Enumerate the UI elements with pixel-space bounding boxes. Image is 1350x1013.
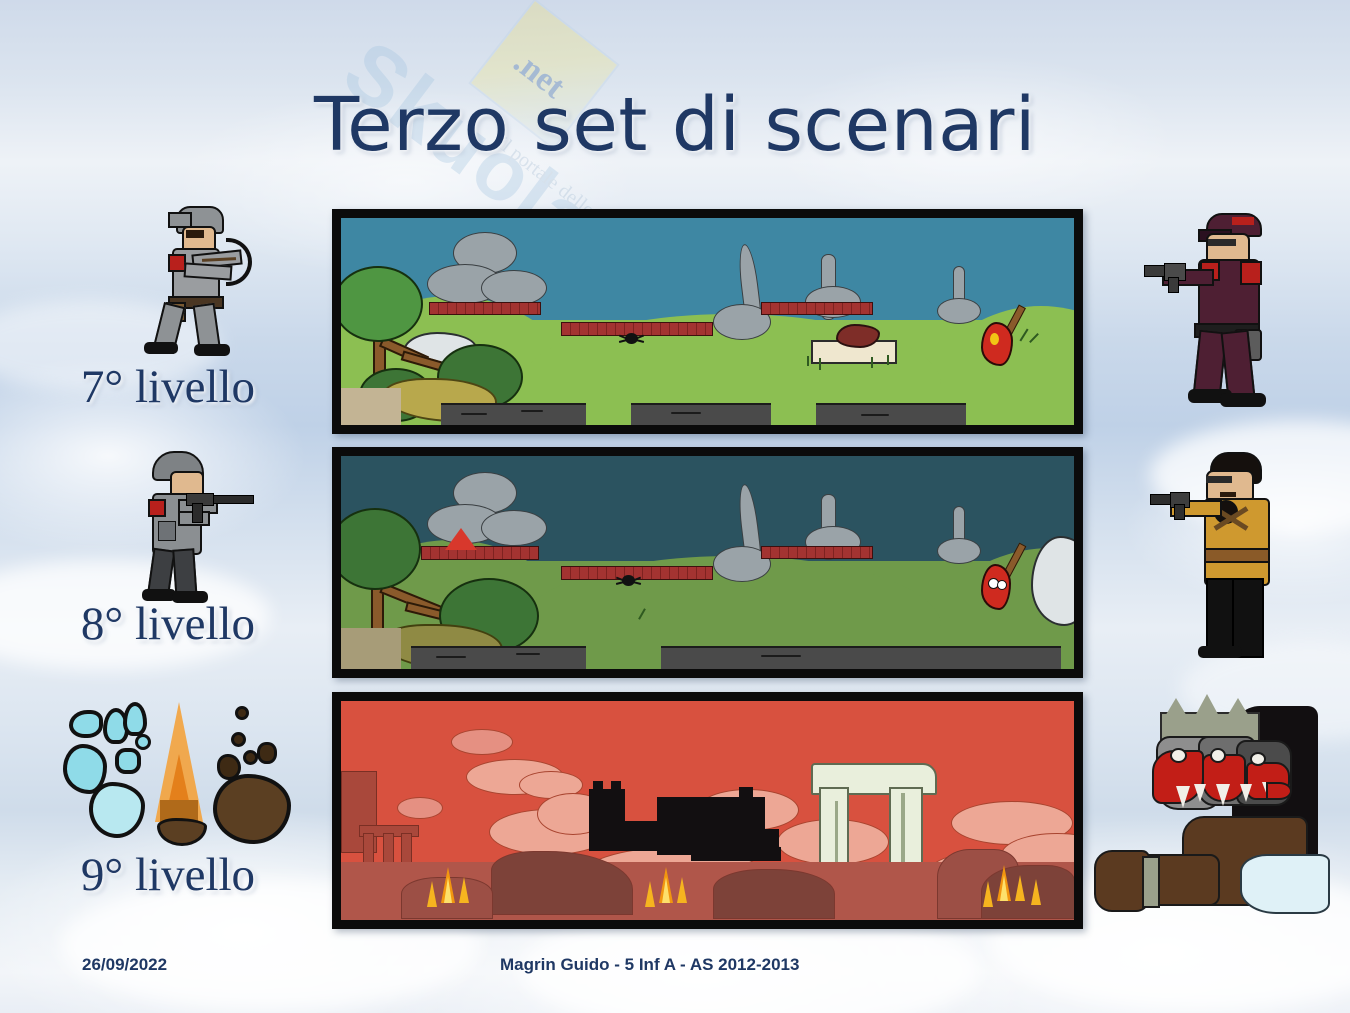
- three-headed-crowned-monster-icon: [1090, 698, 1340, 928]
- cloud: [397, 797, 443, 819]
- red-flag-creature: [981, 564, 1011, 610]
- sunglasses: [1208, 239, 1236, 246]
- worm: [671, 412, 701, 414]
- cap-band: [1232, 217, 1254, 225]
- smoke-puff: [481, 510, 547, 546]
- castle-spire-silhouette: [765, 829, 779, 855]
- lava-flame: [677, 877, 687, 903]
- platform: [661, 646, 1061, 669]
- pistol-grip: [1168, 277, 1179, 293]
- level-label-9: 9° livello: [18, 848, 318, 902]
- scenario-panel-level-9[interactable]: [332, 692, 1083, 929]
- scene-grassland-dusk: [341, 456, 1074, 669]
- smoke-puff: [481, 270, 547, 306]
- bow: [226, 238, 252, 286]
- worm: [761, 655, 801, 657]
- lava-flame-core: [662, 877, 670, 903]
- ice-shard-icon: [123, 702, 147, 736]
- scene-grassland-day: [341, 218, 1074, 425]
- castle-merlon-silhouette: [611, 781, 621, 793]
- rifle-magazine: [192, 503, 203, 523]
- level-label-7: 7° livello: [18, 360, 318, 414]
- earth-pebble-icon: [235, 706, 249, 720]
- smoke-puff: [937, 298, 981, 324]
- ice-shard-icon: [69, 710, 103, 738]
- belt: [1204, 548, 1270, 563]
- flag-emblem-icon: [990, 333, 999, 345]
- footer-date: 26/09/2022: [82, 955, 167, 975]
- lava-flame: [1015, 875, 1025, 901]
- worm: [516, 653, 540, 655]
- spider-enemy: [619, 330, 645, 348]
- man-in-gold-jacket-with-pistol-icon: [1150, 448, 1300, 668]
- brick-wall: [429, 302, 541, 315]
- spider-enemy: [616, 572, 642, 590]
- arch-crack: [835, 801, 838, 871]
- rock-mound: [713, 869, 835, 919]
- boot: [1198, 646, 1242, 658]
- page-title: Terzo set di scenari: [0, 82, 1350, 168]
- earth-pebble-icon: [243, 750, 258, 765]
- shoulder-patch: [1240, 261, 1262, 285]
- creature-eye: [997, 580, 1007, 590]
- soldier-with-bow-icon: [140, 200, 260, 360]
- lava-flame-core: [444, 877, 452, 903]
- boot: [1220, 393, 1266, 407]
- worm: [461, 413, 487, 415]
- boot: [194, 344, 230, 356]
- monster-fang: [1240, 784, 1252, 802]
- brick-wall: [421, 546, 539, 560]
- grass-tuft: [819, 358, 821, 370]
- spider-leg: [633, 581, 641, 585]
- lava-flame: [459, 877, 469, 903]
- scene-infernal-ruins: [341, 701, 1074, 920]
- brick-wall: [761, 546, 873, 559]
- insignia: [158, 521, 176, 541]
- sunglasses: [1206, 476, 1232, 483]
- dirt-ledge: [341, 628, 401, 669]
- lava-flame: [983, 881, 993, 907]
- red-flag: [445, 528, 477, 550]
- smoke-puff: [937, 538, 981, 564]
- monster-eye: [1250, 752, 1266, 766]
- crown-spike: [1226, 698, 1250, 718]
- scenario-panel-level-8[interactable]: [332, 447, 1083, 678]
- crown-spike: [1164, 698, 1188, 718]
- lava-flame: [427, 881, 437, 907]
- castle-spire-silhouette: [739, 787, 753, 811]
- armband: [148, 499, 166, 517]
- ice-shard-icon: [135, 734, 151, 750]
- crown-spike: [1194, 694, 1220, 718]
- officer-with-pistol-icon: [1140, 205, 1290, 425]
- pistol-grip: [1174, 504, 1185, 520]
- grass-tuft: [887, 355, 889, 365]
- dirt-ledge: [341, 388, 401, 425]
- monster-eye: [1210, 748, 1226, 763]
- ice-shard-icon: [115, 748, 141, 774]
- grass-tuft: [807, 356, 809, 366]
- earth-pebble-icon: [257, 742, 277, 764]
- lava-flame: [1031, 879, 1041, 905]
- platform: [816, 403, 966, 425]
- brick-wall: [761, 302, 873, 315]
- monster-tongue: [1266, 782, 1292, 800]
- scenario-panel-level-7[interactable]: [332, 209, 1083, 434]
- boot: [172, 591, 208, 603]
- earth-rock-icon: [213, 774, 291, 844]
- castle-merlon-silhouette: [593, 781, 603, 793]
- hair: [186, 230, 204, 238]
- red-flag: [981, 322, 1013, 366]
- worm: [861, 414, 889, 416]
- boot: [144, 342, 178, 354]
- moustache: [1220, 492, 1236, 497]
- spider-leg: [636, 339, 644, 343]
- rock-mound: [981, 865, 1074, 919]
- monster-eye: [1170, 748, 1187, 763]
- fire-rock: [157, 818, 207, 846]
- cloud: [451, 729, 513, 755]
- monster-fang: [1216, 784, 1230, 806]
- worm: [521, 410, 543, 412]
- elements-ice-fire-earth-icon: [55, 700, 305, 850]
- lava-flame-core: [1000, 875, 1008, 901]
- grass-tuft: [871, 357, 873, 368]
- monster-fang: [1176, 786, 1190, 808]
- slide-canvas: .net Skuola il portale dello studente Te…: [0, 0, 1350, 1013]
- ice-chunk: [1240, 854, 1330, 914]
- footer-author: Magrin Guido - 5 Inf A - AS 2012-2013: [500, 955, 799, 975]
- monster-fang: [1194, 784, 1206, 802]
- platform: [631, 403, 771, 425]
- worm: [436, 656, 466, 658]
- ice-crystal-icon: [89, 782, 145, 838]
- earth-pebble-icon: [231, 732, 246, 747]
- lava-flame: [645, 881, 655, 907]
- monster-bracer: [1142, 856, 1160, 908]
- boot: [142, 589, 176, 601]
- soldier-with-rifle-icon: [130, 447, 260, 607]
